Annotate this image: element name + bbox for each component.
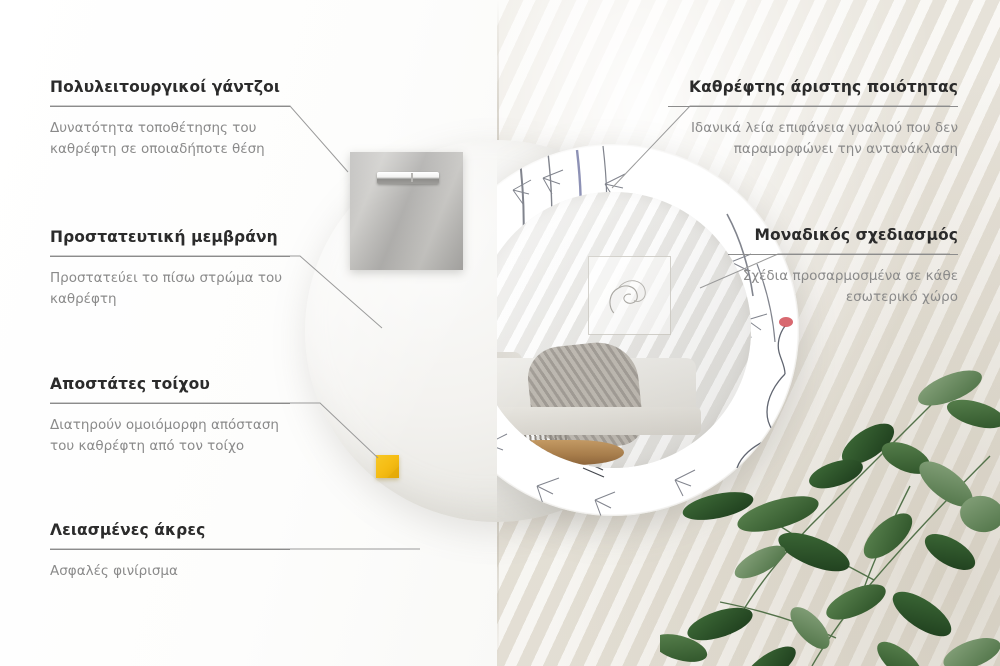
feature-block-design: Μοναδικός σχεδιασμός Σχέδια προσαρμοσμέν… <box>728 226 958 307</box>
feature-rule <box>728 254 958 255</box>
feature-rule <box>50 403 290 404</box>
feature-description: Δυνατότητα τοποθέτησης του καθρέφτη σε ο… <box>50 118 290 159</box>
feature-description: Ασφαλές φινίρισμα <box>50 561 290 581</box>
feature-rule <box>668 106 958 107</box>
yellow-wall-spacer <box>376 455 399 478</box>
metal-hanger-bracket <box>350 152 463 270</box>
green-leaf-branches <box>660 366 1000 666</box>
bracket-shading <box>350 152 463 270</box>
feature-rule <box>50 106 290 107</box>
feature-rule <box>50 256 290 257</box>
feature-title: Μοναδικός σχεδιασμός <box>728 226 958 245</box>
infographic-canvas: Πολυλειτουργικοί γάντζοι Δυνατότητα τοπο… <box>0 0 1000 666</box>
feature-description: Σχέδια προσαρμοσμένα σε κάθε εσωτερικό χ… <box>728 266 958 307</box>
feature-title: Αποστάτες τοίχου <box>50 375 290 394</box>
feature-title: Καθρέφτης άριστης ποιότητας <box>668 78 958 97</box>
feature-title: Πολυλειτουργικοί γάντζοι <box>50 78 290 97</box>
feature-block-quality: Καθρέφτης άριστης ποιότητας Ιδανικά λεία… <box>668 78 958 159</box>
feature-block-edges: Λειασμένες άκρες Ασφαλές φινίρισμα <box>50 521 290 582</box>
feature-block-spacers: Αποστάτες τοίχου Διατηρούν ομοιόμορφη απ… <box>50 375 290 456</box>
feature-description: Προστατεύει το πίσω στρώμα του καθρέφτη <box>50 268 290 309</box>
feature-description: Διατηρούν ομοιόμορφη απόσταση του καθρέφ… <box>50 415 290 456</box>
feature-block-hooks: Πολυλειτουργικοί γάντζοι Δυνατότητα τοπο… <box>50 78 290 159</box>
feature-title: Προστατευτική μεμβράνη <box>50 228 290 247</box>
feature-description: Ιδανικά λεία επιφάνεια γυαλιού που δεν π… <box>668 118 958 159</box>
feature-rule <box>50 549 290 550</box>
bracket-hook-slot <box>377 172 439 184</box>
feature-title: Λειασμένες άκρες <box>50 521 290 540</box>
feature-block-membrane: Προστατευτική μεμβράνη Προστατεύει το πί… <box>50 228 290 309</box>
